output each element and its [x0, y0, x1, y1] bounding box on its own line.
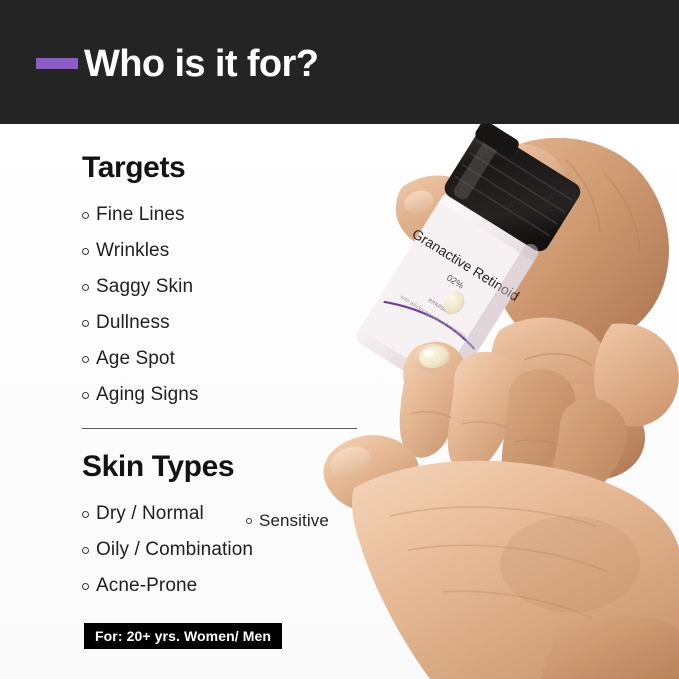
list-item-label: Fine Lines — [96, 203, 185, 227]
header-accent-bar — [36, 58, 78, 69]
audience-badge: For: 20+ yrs. Women/ Men — [84, 623, 282, 649]
list-item-wrinkles: Wrinkles — [82, 239, 169, 263]
list-item-label: Dullness — [96, 311, 170, 335]
list-item-aging-signs: Aging Signs — [82, 383, 199, 407]
bullet-circle-icon — [82, 248, 89, 255]
list-item-label: Acne-Prone — [96, 574, 197, 598]
bullet-circle-icon — [82, 320, 89, 327]
section-heading-skin-types: Skin Types — [82, 449, 234, 485]
page-title: Who is it for? — [84, 41, 318, 87]
list-item-label: Oily / Combination — [96, 538, 253, 562]
list-item-label: Dry / Normal — [96, 502, 204, 526]
list-item-label: Age Spot — [96, 347, 175, 371]
section-heading-targets: Targets — [82, 150, 185, 186]
bullet-circle-icon — [246, 518, 252, 524]
list-item-acne-prone: Acne-Prone — [82, 574, 197, 598]
list-item-dry-normal: Dry / Normal — [82, 502, 204, 526]
bullet-circle-icon — [82, 547, 89, 554]
bullet-circle-icon — [82, 511, 89, 518]
bullet-circle-icon — [82, 212, 89, 219]
section-divider — [82, 428, 357, 429]
list-item-label: Saggy Skin — [96, 275, 193, 299]
list-item-saggy-skin: Saggy Skin — [82, 275, 193, 299]
content-column: Targets Fine Lines Wrinkles Saggy Skin D… — [0, 124, 400, 679]
list-item-sensitive: Sensitive — [246, 509, 329, 533]
bullet-circle-icon — [82, 392, 89, 399]
list-item-label: Aging Signs — [96, 383, 199, 407]
list-item-oily-combination: Oily / Combination — [82, 538, 253, 562]
infographic-page: Granactive Retinoid 02% emulsion with ad… — [0, 0, 679, 679]
list-item-label: Sensitive — [259, 509, 329, 533]
list-item-label: Wrinkles — [96, 239, 169, 263]
bullet-circle-icon — [82, 356, 89, 363]
bullet-circle-icon — [82, 284, 89, 291]
bullet-circle-icon — [82, 583, 89, 590]
list-item-dullness: Dullness — [82, 311, 170, 335]
list-item-fine-lines: Fine Lines — [82, 203, 185, 227]
list-item-age-spot: Age Spot — [82, 347, 175, 371]
header-band: Who is it for? — [0, 0, 679, 124]
